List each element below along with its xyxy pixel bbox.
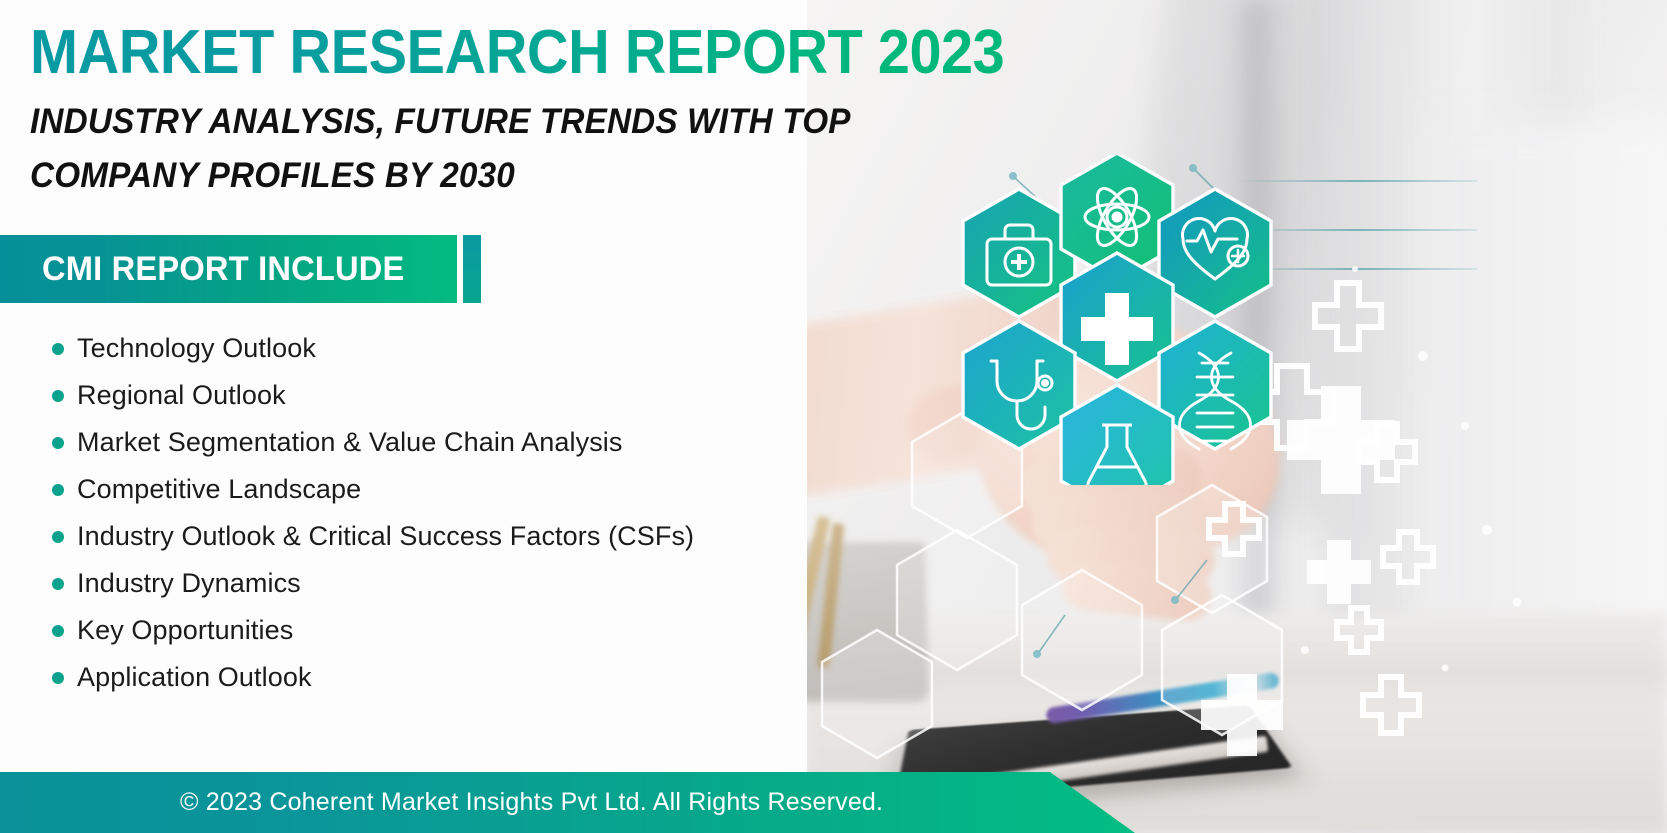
- list-item: Key Opportunities: [52, 607, 952, 654]
- list-item-label: Key Opportunities: [77, 615, 293, 646]
- section-banner-label: CMI REPORT INCLUDE: [42, 250, 405, 289]
- list-item: Regional Outlook: [52, 372, 952, 419]
- section-banner: CMI REPORT INCLUDE: [0, 235, 457, 303]
- list-item-label: Industry Dynamics: [77, 568, 301, 599]
- hexagon-dna: [1159, 321, 1271, 449]
- list-item-label: Market Segmentation & Value Chain Analys…: [77, 427, 623, 458]
- list-item-label: Technology Outlook: [77, 333, 316, 364]
- list-item: Technology Outlook: [52, 325, 952, 372]
- list-item-label: Industry Outlook & Critical Success Fact…: [77, 521, 694, 552]
- hexagon-medical-cross: [1061, 253, 1173, 381]
- list-item: Competitive Landscape: [52, 466, 952, 513]
- page-subtitle: INDUSTRY ANALYSIS, FUTURE TRENDS WITH TO…: [30, 95, 980, 204]
- content-column: MARKET RESEARCH REPORT 2023 INDUSTRY ANA…: [0, 0, 1060, 833]
- list-item-label: Application Outlook: [77, 662, 312, 693]
- hexagon-heartbeat: [1159, 189, 1271, 317]
- bullet-dot-icon: [52, 437, 64, 449]
- list-item: Industry Dynamics: [52, 560, 952, 607]
- bullet-dot-icon: [52, 578, 64, 590]
- report-include-list: Technology Outlook Regional Outlook Mark…: [52, 325, 952, 701]
- bullet-dot-icon: [52, 531, 64, 543]
- copyright-text: © 2023 Coherent Market Insights Pvt Ltd.…: [180, 788, 883, 817]
- list-item: Market Segmentation & Value Chain Analys…: [52, 419, 952, 466]
- bullet-dot-icon: [52, 672, 64, 684]
- poster-root: MARKET RESEARCH REPORT 2023 INDUSTRY ANA…: [0, 0, 1667, 833]
- list-item: Industry Outlook & Critical Success Fact…: [52, 513, 952, 560]
- list-item: Application Outlook: [52, 654, 952, 701]
- footer-bar: © 2023 Coherent Market Insights Pvt Ltd.…: [0, 772, 1135, 833]
- bullet-dot-icon: [52, 625, 64, 637]
- page-title: MARKET RESEARCH REPORT 2023: [30, 22, 1004, 84]
- bullet-dot-icon: [52, 343, 64, 355]
- section-banner-accent-bar: [463, 235, 481, 303]
- list-item-label: Competitive Landscape: [77, 474, 361, 505]
- hexagon-flask: [1061, 385, 1173, 485]
- list-item-label: Regional Outlook: [77, 380, 286, 411]
- bullet-dot-icon: [52, 484, 64, 496]
- bullet-dot-icon: [52, 390, 64, 402]
